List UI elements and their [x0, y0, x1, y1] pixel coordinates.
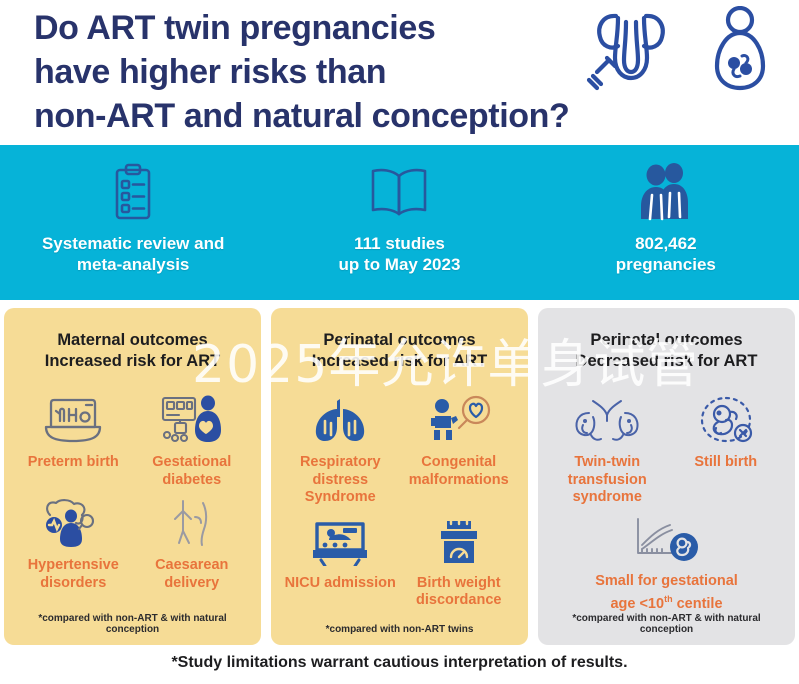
outcome-label: Still birth [694, 454, 757, 472]
fetus-cross-icon [696, 392, 756, 448]
stat-pregnancies-count: 802,462 pregnancies [533, 159, 799, 275]
outcome-label: Small for gestationalage <10th centile [595, 573, 738, 613]
outcome-label: NICU admission [285, 575, 396, 593]
incubator-icon [42, 392, 104, 448]
footer-disclaimer: *Study limitations warrant cautious inte… [171, 654, 627, 672]
blood-pressure-pregnant-icon [40, 495, 106, 551]
card-items-grid: Twin-twin transfusion syndrome [548, 376, 785, 507]
card-maternal-outcomes: Maternal outcomes Increased risk for ART [4, 308, 261, 645]
twin-fetuses-placenta-icon [571, 392, 643, 448]
outcome-label: Twin-twin transfusion syndrome [568, 454, 647, 507]
outcome-small-for-gestational-age: Small for gestationalage <10th centile [591, 511, 742, 613]
page-title: Do ART twin pregnancies have higher risk… [34, 6, 614, 138]
stat-studies-count: 111 studies up to May 2023 [266, 159, 532, 275]
footer: *Study limitations warrant cautious inte… [0, 645, 799, 681]
outcome-label: Birth weight discordance [416, 575, 501, 610]
growth-chart-fetus-icon [628, 511, 706, 567]
header-icon-group [581, 4, 771, 104]
card-title: Perinatal outcomes Increased risk for AR… [281, 330, 518, 372]
stats-band: Systematic review and meta-analysis 111 … [0, 145, 799, 300]
header: Do ART twin pregnancies have higher risk… [0, 0, 799, 145]
outcome-label: Preterm birth [28, 454, 119, 472]
outcome-respiratory-distress: Respiratory distress Syndrome [281, 392, 400, 507]
card-title: Maternal outcomes Increased risk for ART [14, 330, 251, 372]
card-perinatal-decreased: Perinatal outcomes Decreased risk for AR… [538, 308, 795, 645]
outcome-caesarean-delivery: Caesarean delivery [133, 495, 252, 592]
outcome-preterm-birth: Preterm birth [14, 392, 133, 489]
outcome-cards-row: Maternal outcomes Increased risk for ART [0, 300, 799, 645]
uterus-syringe-icon [583, 6, 679, 92]
outcome-label: Caesarean delivery [155, 557, 228, 592]
open-book-icon [367, 159, 431, 225]
outcome-label: Respiratory distress Syndrome [283, 454, 398, 507]
caesarean-scar-icon [163, 495, 221, 551]
lungs-icon [311, 392, 369, 448]
outcome-congenital-malformations: Congenital malformations [400, 392, 519, 507]
stat-label: 111 studies up to May 2023 [339, 233, 461, 275]
glucose-monitor-pregnant-icon [159, 392, 225, 448]
card-items-grid: Preterm birth [14, 376, 251, 613]
outcome-nicu-admission: NICU admission [281, 513, 400, 610]
stat-label: Systematic review and meta-analysis [42, 233, 224, 275]
card-items-grid: Respiratory distress Syndrome [281, 376, 518, 624]
outcome-gestational-diabetes: Gestational diabetes [133, 392, 252, 489]
clipboard-checklist-icon [110, 159, 156, 225]
stat-systematic-review: Systematic review and meta-analysis [0, 159, 266, 275]
card-footnote: *compared with non-ART twins [281, 624, 518, 639]
outcome-still-birth: Still birth [667, 392, 786, 507]
outcome-birth-weight-discordance: Birth weight discordance [400, 513, 519, 610]
card-footnote: *compared with non-ART & with natural co… [548, 613, 785, 639]
card-footnote: *compared with non-ART & with natural co… [14, 613, 251, 639]
outcome-label: Gestational diabetes [152, 454, 231, 489]
baby-scale-icon [431, 513, 487, 569]
card-items-single: Small for gestationalage <10th centile [548, 507, 785, 613]
card-perinatal-increased: Perinatal outcomes Increased risk for AR… [271, 308, 528, 645]
nicu-incubator-icon [309, 513, 371, 569]
outcome-hypertensive-disorders: Hypertensive disorders [14, 495, 133, 592]
outcome-label: Congenital malformations [409, 454, 509, 489]
stat-label: 802,462 pregnancies [616, 233, 716, 275]
baby-heart-magnifier-icon [426, 392, 492, 448]
two-people-icon [637, 159, 695, 225]
outcome-label: Hypertensive disorders [28, 557, 119, 592]
outcome-twin-twin-transfusion: Twin-twin transfusion syndrome [548, 392, 667, 507]
card-title: Perinatal outcomes Decreased risk for AR… [548, 330, 785, 372]
pregnant-twins-icon [709, 6, 771, 92]
